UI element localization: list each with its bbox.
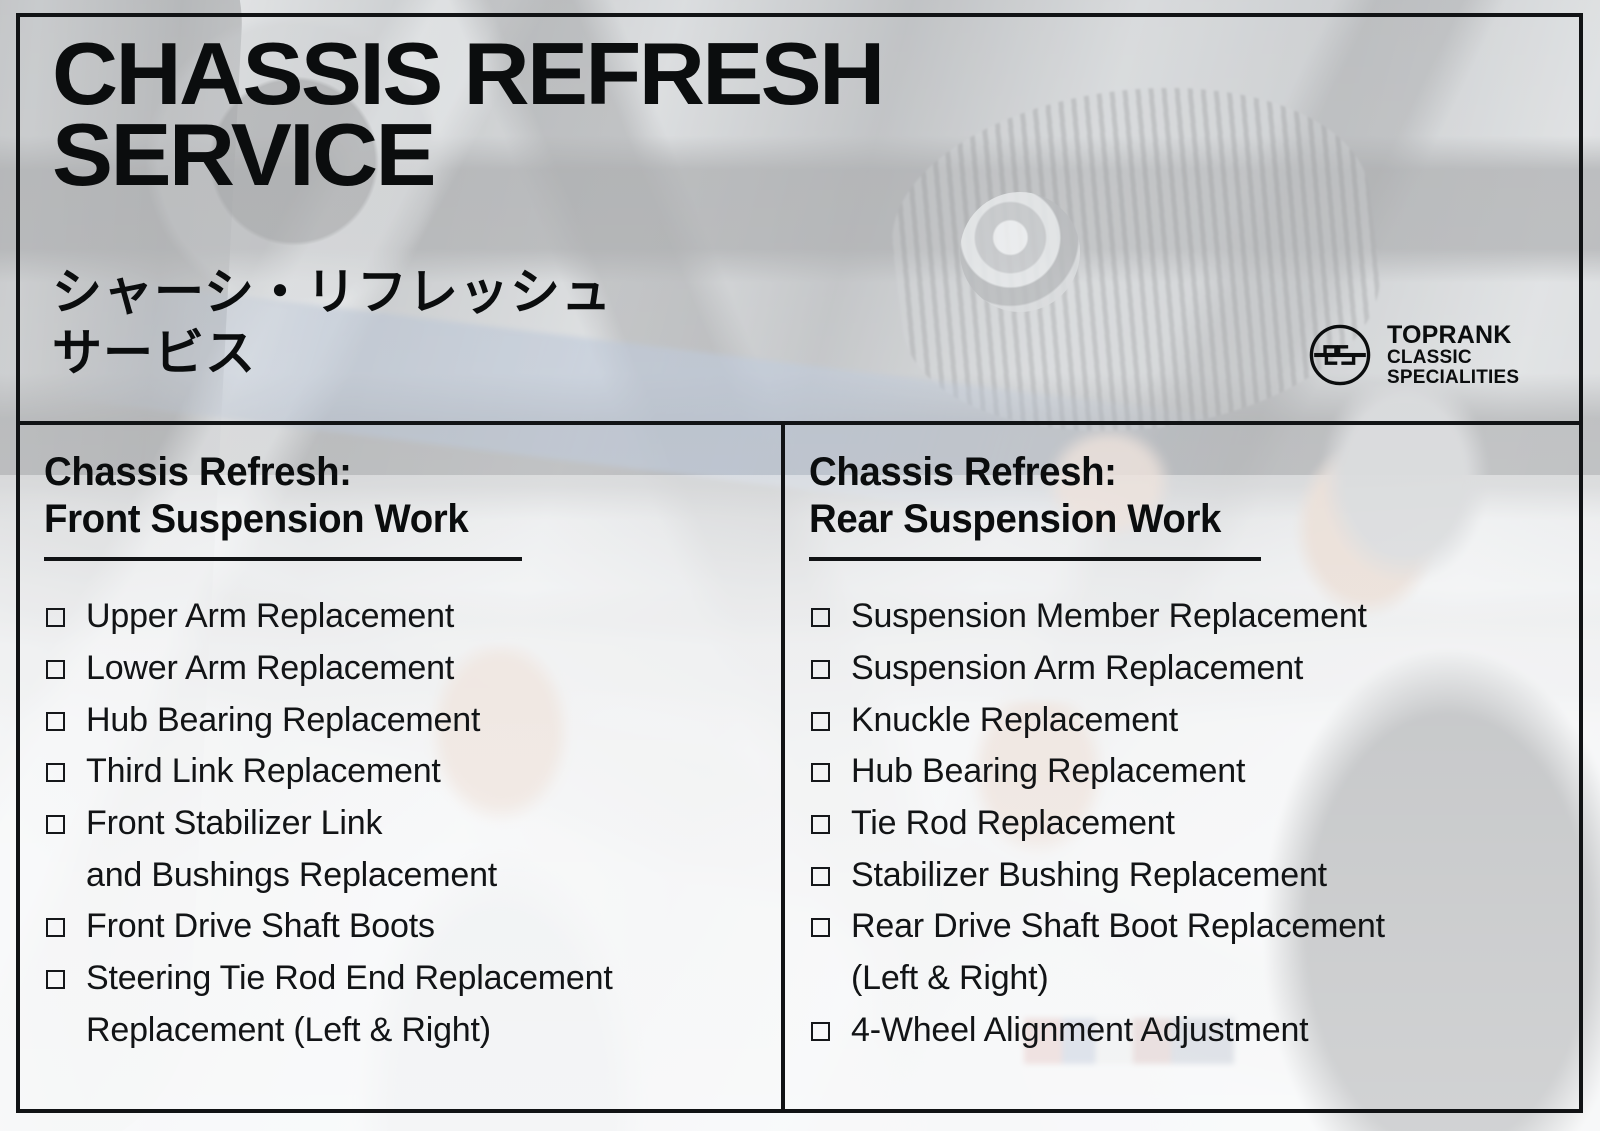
list-item-label: Lower Arm Replacement — [86, 643, 759, 695]
front-suspension-panel: Chassis Refresh: Front Suspension Work U… — [16, 421, 781, 1113]
list-item[interactable]: Hub Bearing Replacement — [809, 746, 1563, 798]
checkbox-icon[interactable] — [46, 763, 65, 782]
list-item[interactable]: Third Link Replacement — [44, 746, 759, 798]
list-item-label: Upper Arm Replacement — [86, 591, 759, 643]
front-heading-underline — [44, 557, 522, 561]
list-item[interactable]: Knuckle Replacement — [809, 695, 1563, 747]
list-item[interactable]: 4-Wheel Alignment Adjustment — [809, 1005, 1563, 1057]
rear-heading-underline — [809, 557, 1261, 561]
subtitle-line-2: サービス — [52, 323, 612, 384]
list-item-label-continuation: Replacement (Left & Right) — [86, 1011, 491, 1049]
subtitle-line-1: シャーシ・リフレッシュ — [52, 262, 612, 323]
brand-logo-text: TOPRANK CLASSIC SPECIALITIES — [1387, 322, 1519, 388]
list-item-label-continuation: and Bushings Replacement — [86, 856, 497, 894]
list-item-label: Third Link Replacement — [86, 746, 759, 798]
checkbox-icon[interactable] — [811, 608, 830, 627]
list-item-label: Suspension Arm Replacement — [851, 643, 1563, 695]
title-line-2: SERVICE — [52, 105, 434, 204]
list-item[interactable]: Lower Arm Replacement — [44, 643, 759, 695]
rear-suspension-checklist: Suspension Member Replacement Suspension… — [809, 591, 1563, 1056]
list-item[interactable]: Rear Drive Shaft Boot Replacement (Left … — [809, 901, 1563, 1004]
front-suspension-heading: Chassis Refresh: Front Suspension Work — [44, 449, 730, 543]
list-item-label: Knuckle Replacement — [851, 695, 1563, 747]
list-item-label: Front Drive Shaft Boots — [86, 901, 759, 953]
list-item-label: Front Stabilizer Link — [86, 798, 759, 850]
brand-tagline-1: CLASSIC — [1387, 348, 1519, 368]
rear-suspension-panel: Chassis Refresh: Rear Suspension Work Su… — [785, 421, 1583, 1113]
rear-suspension-heading: Chassis Refresh: Rear Suspension Work — [809, 449, 1533, 543]
list-item[interactable]: Suspension Member Replacement — [809, 591, 1563, 643]
list-item-label: Stabilizer Bushing Replacement — [851, 850, 1563, 902]
checkbox-icon[interactable] — [46, 660, 65, 679]
list-item[interactable]: Front Stabilizer Link and Bushings Repla… — [44, 798, 759, 901]
page-title: CHASSIS REFRESH SERVICE — [52, 34, 1217, 196]
brand-tagline-2: SPECIALITIES — [1387, 368, 1519, 388]
front-heading-line-1: Chassis Refresh: — [44, 449, 730, 496]
page-subtitle-japanese: シャーシ・リフレッシュ サービス — [52, 262, 612, 384]
rear-heading-line-2: Rear Suspension Work — [809, 496, 1533, 543]
brand-logo: TOPRANK CLASSIC SPECIALITIES — [1306, 312, 1538, 398]
list-item[interactable]: Upper Arm Replacement — [44, 591, 759, 643]
list-item-label: Suspension Member Replacement — [851, 591, 1563, 643]
list-item[interactable]: Steering Tie Rod End Replacement Replace… — [44, 953, 759, 1056]
checkbox-icon[interactable] — [811, 867, 830, 886]
list-item-label-continuation: (Left & Right) — [851, 959, 1049, 997]
checkbox-icon[interactable] — [811, 815, 830, 834]
checkbox-icon[interactable] — [46, 608, 65, 627]
list-item[interactable]: Front Drive Shaft Boots — [44, 901, 759, 953]
checkbox-icon[interactable] — [811, 712, 830, 731]
checkbox-icon[interactable] — [46, 815, 65, 834]
list-item[interactable]: Suspension Arm Replacement — [809, 643, 1563, 695]
list-item[interactable]: Tie Rod Replacement — [809, 798, 1563, 850]
front-heading-line-2: Front Suspension Work — [44, 496, 730, 543]
chassis-refresh-service-poster: CHASSIS REFRESH SERVICE シャーシ・リフレッシュ サービス… — [0, 0, 1600, 1131]
checkbox-icon[interactable] — [46, 918, 65, 937]
brand-name: TOPRANK — [1387, 322, 1519, 348]
front-suspension-checklist: Upper Arm Replacement Lower Arm Replacem… — [44, 591, 759, 1056]
checkbox-icon[interactable] — [46, 712, 65, 731]
list-item-label: Rear Drive Shaft Boot Replacement — [851, 901, 1563, 953]
list-item-label: Steering Tie Rod End Replacement — [86, 953, 759, 1005]
tcs-circle-icon — [1306, 321, 1374, 389]
list-item-label: 4-Wheel Alignment Adjustment — [851, 1005, 1563, 1057]
list-item[interactable]: Stabilizer Bushing Replacement — [809, 850, 1563, 902]
checkbox-icon[interactable] — [811, 660, 830, 679]
checkbox-icon[interactable] — [46, 970, 65, 989]
list-item-label: Tie Rod Replacement — [851, 798, 1563, 850]
checkbox-icon[interactable] — [811, 1022, 830, 1041]
checkbox-icon[interactable] — [811, 918, 830, 937]
list-item-label: Hub Bearing Replacement — [86, 695, 759, 747]
checkbox-icon[interactable] — [811, 763, 830, 782]
list-item-label: Hub Bearing Replacement — [851, 746, 1563, 798]
rear-heading-line-1: Chassis Refresh: — [809, 449, 1533, 496]
list-item[interactable]: Hub Bearing Replacement — [44, 695, 759, 747]
